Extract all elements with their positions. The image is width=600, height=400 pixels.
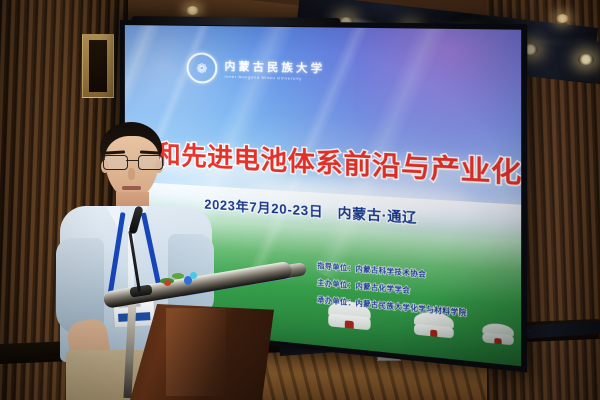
downlight-icon [578,54,594,65]
podium-edge-trim [123,300,136,398]
university-name-cn: 内蒙古民族大学 [225,58,326,76]
nose [128,168,135,180]
yurt-body [482,333,513,345]
glasses-bridge [126,160,138,161]
university-emblem-icon: ❁ [187,52,218,83]
wall-plaque [82,34,114,98]
yurt-door [495,338,501,344]
mouth [122,186,141,190]
foliage [172,273,184,279]
podium-highlight [166,308,226,396]
lens [103,155,128,170]
podium [108,292,293,400]
yurt-door [430,330,438,338]
flower-arrangement [160,270,206,292]
lens [138,155,163,170]
conference-photo: ❁ 内蒙古民族大学 Inner Mongolia Minzu Universit… [0,0,600,400]
yurt-door [345,321,353,329]
wall-sconce-icon [186,6,199,15]
wall-sconce-icon [556,14,569,23]
emblem-glyph: ❁ [196,61,207,75]
yurt-body [328,314,370,331]
yurt [482,322,513,345]
flower-cyan [190,272,197,279]
university-logo: ❁ 内蒙古民族大学 Inner Mongolia Minzu Universit… [187,52,326,87]
flower-red [164,280,171,286]
university-logo-text: 内蒙古民族大学 Inner Mongolia Minzu University [225,58,326,81]
eyeglasses-icon [103,155,161,169]
